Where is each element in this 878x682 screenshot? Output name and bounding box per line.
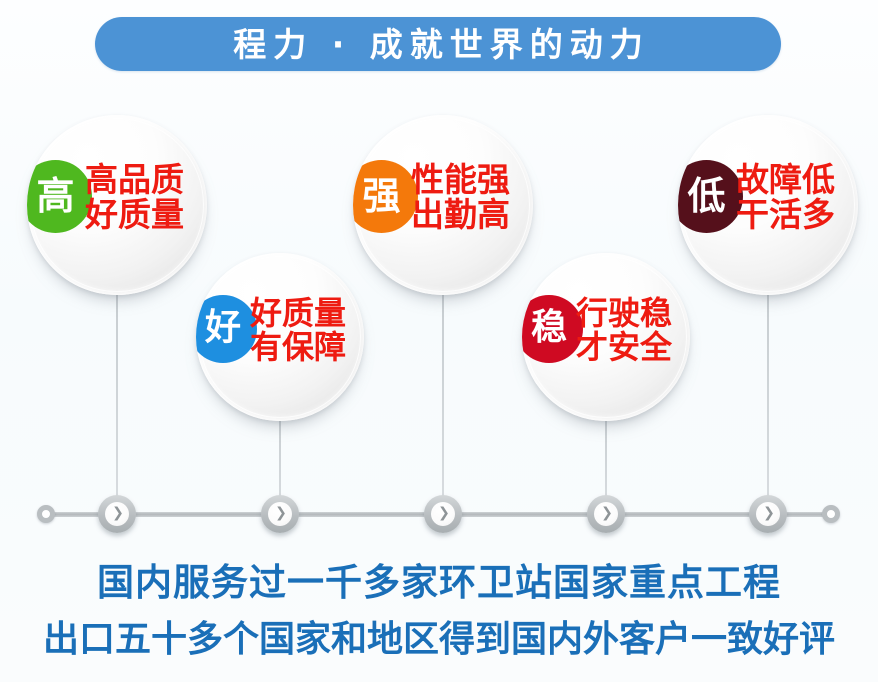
feature-bubble-2[interactable]: 好 好质量 有保障 <box>196 253 364 421</box>
feature-bubble-5[interactable]: 低 故障低 干活多 <box>678 115 858 295</box>
feature-text-3: 性能强 出勤高 <box>411 163 510 233</box>
timeline-node-3[interactable]: ❯ <box>424 495 462 533</box>
timeline-node-1[interactable]: ❯ <box>98 495 136 533</box>
feature-badge-5: 低 <box>678 160 743 233</box>
feature-line2-2: 有保障 <box>250 331 346 365</box>
timeline-node-inner-1: ❯ <box>105 502 129 526</box>
feature-line1-1: 高品质 <box>85 163 184 198</box>
feature-badge-1: 高 <box>27 160 92 233</box>
chevron-right-icon: ❯ <box>112 506 124 520</box>
timeline-node-inner-3: ❯ <box>431 502 455 526</box>
feature-bubble-1[interactable]: 高 高品质 好质量 <box>27 115 207 295</box>
feature-line2-4: 才安全 <box>576 331 672 365</box>
feature-line1-2: 好质量 <box>250 297 346 331</box>
feature-badge-3: 强 <box>353 160 418 233</box>
feature-text-2: 好质量 有保障 <box>250 297 346 365</box>
poster-canvas: 程力 · 成就世界的动力 高 高品质 好质量 强 性能强 出勤高 低 故障低 干… <box>0 0 878 682</box>
feature-line2-3: 出勤高 <box>411 198 510 233</box>
timeline-endcap-right <box>822 505 840 523</box>
footer-line-1: 国内服务过一千多家环卫站国家重点工程 <box>0 552 878 606</box>
feature-text-4: 行驶稳 才安全 <box>576 297 672 365</box>
feature-line1-5: 故障低 <box>736 163 835 198</box>
timeline-node-inner-5: ❯ <box>756 502 780 526</box>
timeline-endcap-left <box>37 505 55 523</box>
stem-1 <box>116 280 118 510</box>
feature-line2-5: 干活多 <box>736 198 835 233</box>
timeline-node-5[interactable]: ❯ <box>749 495 787 533</box>
feature-badge-label-5: 低 <box>687 177 725 215</box>
chevron-right-icon: ❯ <box>601 506 613 520</box>
header-title: 程力 · 成就世界的动力 <box>226 28 650 61</box>
feature-line1-3: 性能强 <box>411 163 510 198</box>
stem-3 <box>442 280 444 510</box>
chevron-right-icon: ❯ <box>438 506 450 520</box>
feature-text-1: 高品质 好质量 <box>85 163 184 233</box>
feature-badge-4: 稳 <box>522 295 583 363</box>
header-banner: 程力 · 成就世界的动力 <box>95 17 781 71</box>
feature-badge-label-4: 稳 <box>531 310 567 346</box>
timeline-node-2[interactable]: ❯ <box>261 495 299 533</box>
feature-badge-label-3: 强 <box>362 177 400 215</box>
feature-badge-label-1: 高 <box>36 177 74 215</box>
feature-badge-label-2: 好 <box>205 310 241 346</box>
chevron-right-icon: ❯ <box>763 506 775 520</box>
stem-5 <box>767 280 769 510</box>
footer-line-2: 出口五十多个国家和地区得到国内外客户一致好评 <box>0 610 878 662</box>
feature-line2-1: 好质量 <box>85 198 184 233</box>
chevron-right-icon: ❯ <box>275 506 287 520</box>
timeline-node-inner-2: ❯ <box>268 502 292 526</box>
timeline-node-4[interactable]: ❯ <box>587 495 625 533</box>
feature-bubble-3[interactable]: 强 性能强 出勤高 <box>353 115 533 295</box>
timeline-node-inner-4: ❯ <box>594 502 618 526</box>
feature-bubble-4[interactable]: 稳 行驶稳 才安全 <box>522 253 690 421</box>
feature-badge-2: 好 <box>196 295 257 363</box>
feature-line1-4: 行驶稳 <box>576 297 672 331</box>
feature-text-5: 故障低 干活多 <box>736 163 835 233</box>
